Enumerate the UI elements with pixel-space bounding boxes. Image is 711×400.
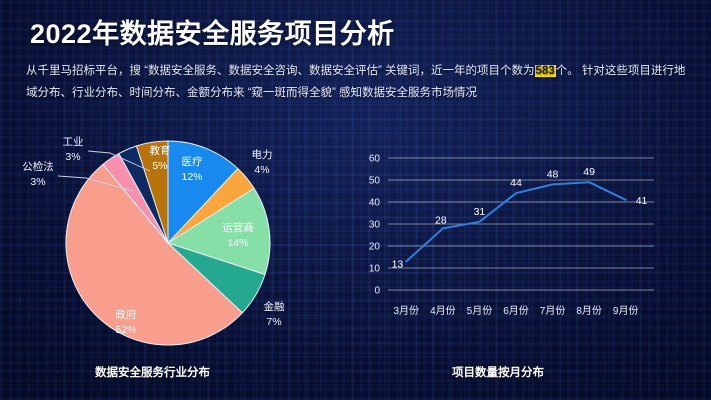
x-tick-label: 8月份: [576, 305, 602, 317]
project-count-highlight: 583: [535, 65, 556, 77]
page-title: 2022年数据安全服务项目分析: [30, 12, 395, 51]
pie-slice-label: 电力: [252, 148, 273, 161]
x-tick-label: 3月份: [394, 305, 420, 317]
data-point-label: 28: [435, 214, 447, 226]
y-tick-label: 60: [369, 154, 381, 165]
pie-slice-label: 公检法: [22, 160, 54, 173]
pie-slice-value: 12%: [181, 171, 202, 183]
x-tick-label: 6月份: [503, 305, 529, 317]
pie-slice-value: 4%: [254, 164, 269, 176]
pie-slice-label: 医疗: [182, 155, 203, 168]
pie-slice-label: 金融: [264, 300, 285, 313]
pie-chart-caption: 数据安全服务行业分布: [95, 364, 210, 380]
pie-slice-value: 52%: [115, 324, 136, 336]
data-value-labels: 13283144484941: [392, 166, 648, 270]
data-point-label: 48: [547, 168, 559, 180]
y-axis-tick-labels: 0102030405060: [369, 154, 381, 297]
data-point-label: 41: [636, 195, 648, 207]
pie-slice-label: 运营商: [222, 221, 254, 234]
line-chart-caption: 项目数量按月分布: [452, 364, 544, 380]
x-tick-label: 9月份: [613, 305, 639, 317]
y-tick-label: 50: [369, 176, 381, 187]
data-point-label: 49: [583, 166, 595, 178]
x-tick-label: 4月份: [430, 305, 456, 317]
pie-slice-value: 7%: [266, 316, 281, 328]
line-svg: 0102030405060 13283144484941 3月份4月份5月份6月…: [352, 146, 704, 334]
pie-slice-value: 14%: [227, 237, 248, 249]
data-point-label: 44: [510, 177, 522, 189]
monthly-line-chart: 0102030405060 13283144484941 3月份4月份5月份6月…: [352, 146, 704, 334]
industry-pie-chart: 医疗12%电力4%运营商14%金融7%政府52%公检法3%工业3%教育5%: [0, 118, 348, 356]
data-point-label: 31: [474, 206, 486, 218]
x-tick-label: 7月份: [540, 305, 566, 317]
pie-svg: 医疗12%电力4%运营商14%金融7%政府52%公检法3%工业3%教育5%: [0, 118, 348, 356]
x-tick-label: 5月份: [467, 305, 493, 317]
data-point-label: 13: [392, 258, 404, 270]
pie-slice-value: 3%: [30, 176, 45, 188]
y-tick-label: 30: [369, 220, 381, 231]
y-tick-label: 0: [374, 286, 380, 297]
pie-slice-label: 政府: [116, 308, 137, 321]
intro-paragraph: 从千里马招标平台，搜 “数据安全服务、数据安全咨询、数据安全评估” 关键词，近一…: [26, 60, 686, 104]
pie-slice-label: 工业: [63, 136, 84, 148]
slide-canvas: 2022年数据安全服务项目分析 从千里马招标平台，搜 “数据安全服务、数据安全咨…: [0, 0, 711, 400]
y-tick-label: 40: [369, 198, 381, 209]
x-axis-tick-labels: 3月份4月份5月份6月份7月份8月份9月份: [394, 305, 639, 317]
y-tick-label: 20: [369, 242, 381, 253]
pie-slice-label: 教育: [150, 144, 171, 157]
pie-slice-value: 3%: [65, 151, 80, 163]
y-tick-label: 10: [369, 264, 381, 275]
intro-text-prefix: 从千里马招标平台，搜 “数据安全服务、数据安全咨询、数据安全评估” 关键词，近一…: [26, 65, 535, 77]
pie-slice-value: 5%: [152, 160, 167, 172]
